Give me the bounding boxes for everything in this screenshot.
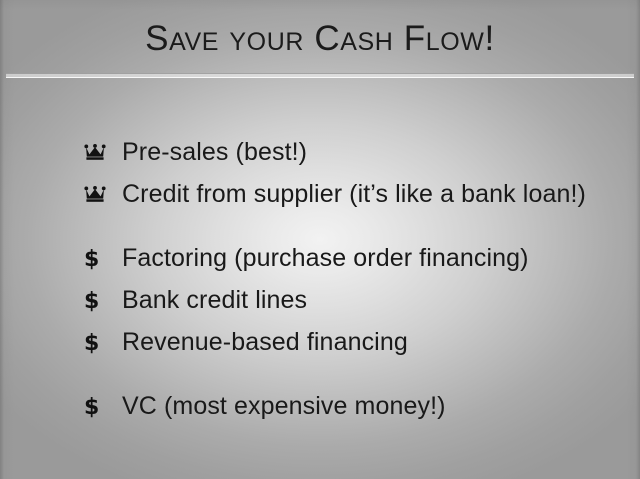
list-item-label: Credit from supplier (it’s like a bank l… [122,173,586,215]
list-item-label: Pre-sales (best!) [122,131,307,173]
dollar-sign-icon: $ [84,323,122,365]
dollar-sign-icon: $ [84,281,122,323]
bullet-list: Pre-sales (best!) Credit from supplier (… [84,131,624,427]
bullet-group-dollar-primary: $ Factoring (purchase order financing) $… [84,237,624,363]
list-item-label: Bank credit lines [122,279,307,321]
dollar-sign-icon: $ [84,387,122,429]
list-item: $ Bank credit lines [84,279,624,321]
dollar-sign-icon: $ [84,239,122,281]
list-item: $ VC (most expensive money!) [84,385,624,427]
bullet-group-crown: Pre-sales (best!) Credit from supplier (… [84,131,624,215]
list-item: $ Revenue-based financing [84,321,624,363]
list-item-label: Factoring (purchase order financing) [122,237,529,279]
list-item: Credit from supplier (it’s like a bank l… [84,173,624,215]
presentation-slide: Save your Cash Flow! Pre-sales (best!) [0,0,640,479]
title-divider-rule [6,73,634,78]
crown-icon [84,144,122,161]
list-item: $ Factoring (purchase order financing) [84,237,624,279]
crown-icon [84,186,122,203]
bullet-group-dollar-vc: $ VC (most expensive money!) [84,385,624,427]
list-item-label: VC (most expensive money!) [122,385,446,427]
slide-title: Save your Cash Flow! [0,18,640,60]
list-item-label: Revenue-based financing [122,321,408,363]
list-item: Pre-sales (best!) [84,131,624,173]
